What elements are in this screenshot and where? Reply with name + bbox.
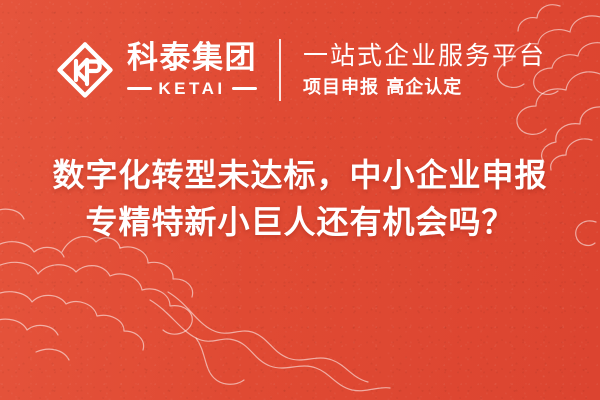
headline-block: 数字化转型未达标，中小企业申报 专精特新小巨人还有机会吗？ bbox=[0, 152, 600, 246]
banner-header: 科泰集团 KETAI 一站式企业服务平台 项目申报 高企认定 bbox=[0, 28, 600, 112]
wordmark-rule-right bbox=[232, 87, 257, 90]
brand-name-en-row: KETAI bbox=[127, 80, 257, 97]
brand-lockup: 科泰集团 KETAI bbox=[54, 39, 279, 101]
wordmark-rule-left bbox=[127, 87, 152, 90]
brand-wordmark: 科泰集团 KETAI bbox=[127, 43, 257, 97]
headline-line-2: 专精特新小巨人还有机会吗？ bbox=[18, 199, 582, 246]
promo-banner: 科泰集团 KETAI 一站式企业服务平台 项目申报 高企认定 数字化转型未达标，… bbox=[0, 0, 600, 400]
tagline-secondary: 项目申报 高企认定 bbox=[303, 78, 546, 99]
tagline-primary: 一站式企业服务平台 bbox=[303, 42, 546, 71]
tagline-group: 一站式企业服务平台 项目申报 高企认定 bbox=[281, 42, 546, 98]
headline-line-1: 数字化转型未达标，中小企业申报 bbox=[18, 152, 582, 199]
ketai-logo-icon bbox=[54, 39, 116, 101]
brand-name-en: KETAI bbox=[158, 80, 225, 97]
brand-name-cn: 科泰集团 bbox=[127, 43, 257, 74]
